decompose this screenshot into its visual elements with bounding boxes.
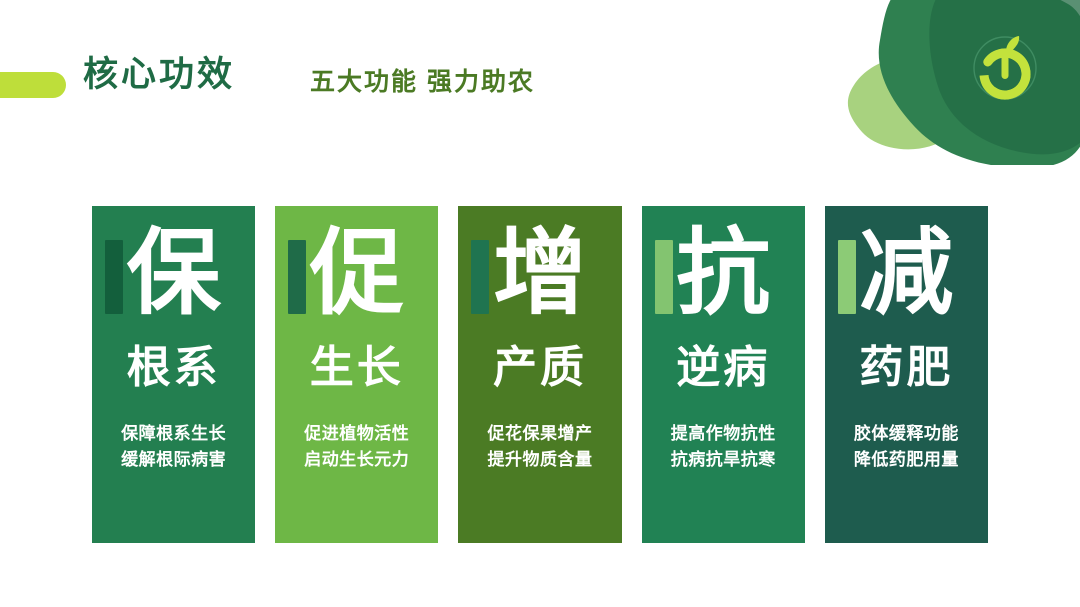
card-mid-label: 药肥	[825, 343, 988, 394]
card-description-line1: 胶体缓释功能	[825, 421, 988, 447]
card-mid-label: 产质	[458, 343, 621, 394]
page-title: 核心功效	[83, 57, 235, 92]
card-description-line1: 促进植物活性	[275, 421, 438, 447]
card-description-line2: 启动生长元力	[275, 447, 438, 473]
card-description-line2: 缓解根际病害	[92, 447, 255, 473]
card-big-character: 抗	[642, 222, 805, 324]
card-description: 促花保果增产 提升物质含量	[458, 421, 621, 472]
card-description-line2: 提升物质含量	[458, 447, 621, 473]
card-big-character: 增	[458, 222, 621, 324]
card-description-line1: 促花保果增产	[458, 421, 621, 447]
page-subtitle: 五大功能 强力助农	[310, 70, 535, 95]
feature-card-list: 保 根系 保障根系生长 缓解根际病害 促 生长 促进植物活性 启动生长元力 增 …	[92, 206, 988, 543]
header-accent-pill	[0, 72, 66, 98]
card-mid-label: 生长	[275, 343, 438, 394]
card-mid-label: 根系	[92, 343, 255, 394]
feature-card-cu[interactable]: 促 生长 促进植物活性 启动生长元力	[275, 206, 438, 543]
card-description-line1: 保障根系生长	[92, 421, 255, 447]
card-description-line2: 降低药肥用量	[825, 447, 988, 473]
card-description-line1: 提高作物抗性	[642, 421, 805, 447]
card-big-character: 促	[275, 222, 438, 324]
feature-card-jian[interactable]: 减 药肥 胶体缓释功能 降低药肥用量	[825, 206, 988, 543]
card-big-character: 减	[825, 222, 988, 324]
card-description: 提高作物抗性 抗病抗旱抗寒	[642, 421, 805, 472]
card-description-line2: 抗病抗旱抗寒	[642, 447, 805, 473]
card-description: 胶体缓释功能 降低药肥用量	[825, 421, 988, 472]
feature-card-zeng[interactable]: 增 产质 促花保果增产 提升物质含量	[458, 206, 621, 543]
page-header: 核心功效 五大功能 强力助农	[0, 0, 1080, 170]
card-big-character: 保	[92, 222, 255, 324]
card-mid-label: 逆病	[642, 343, 805, 394]
card-description: 促进植物活性 启动生长元力	[275, 421, 438, 472]
feature-card-bao[interactable]: 保 根系 保障根系生长 缓解根际病害	[92, 206, 255, 543]
feature-card-kang[interactable]: 抗 逆病 提高作物抗性 抗病抗旱抗寒	[642, 206, 805, 543]
card-description: 保障根系生长 缓解根际病害	[92, 421, 255, 472]
